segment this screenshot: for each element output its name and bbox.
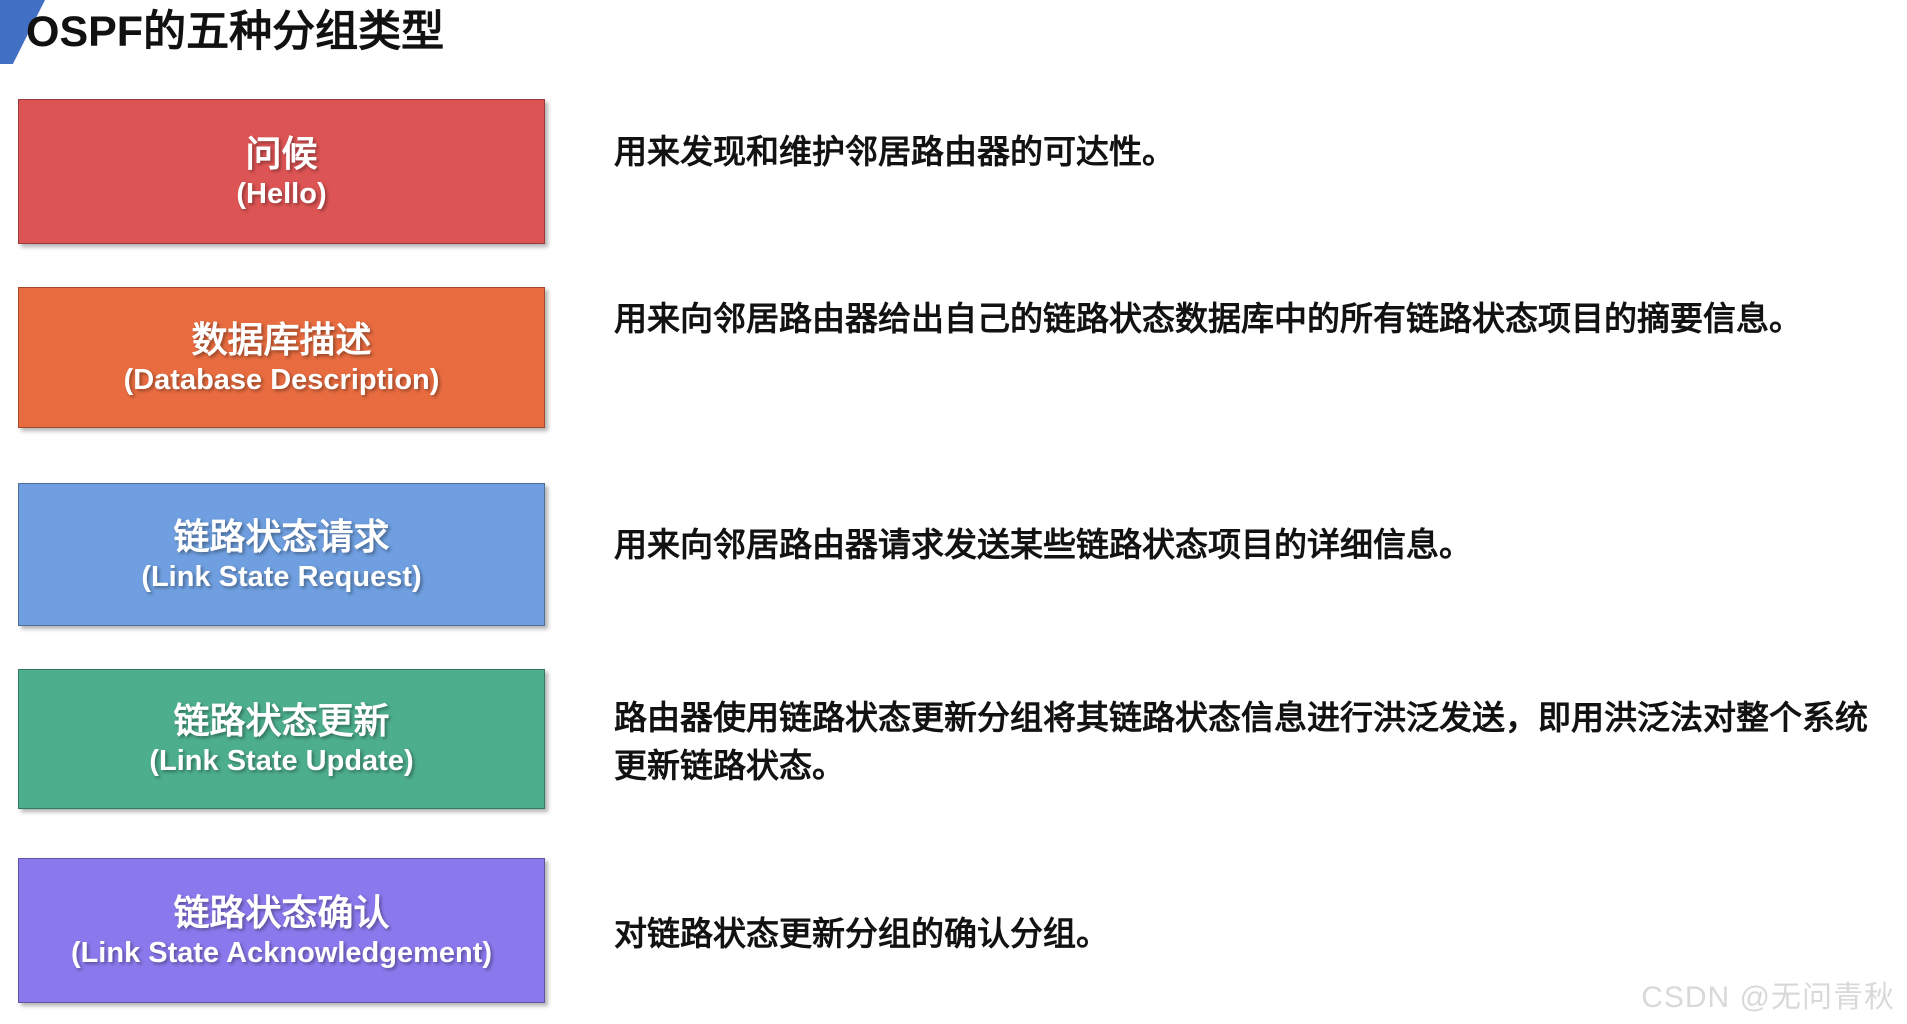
packet-type-name-en: (Link State Request) xyxy=(141,559,421,595)
packet-type-box[interactable]: 链路状态确认(Link State Acknowledgement) xyxy=(18,858,545,1003)
packet-type-description: 用来发现和维护邻居路由器的可达性。 xyxy=(614,128,1884,176)
packet-type-description: 用来向邻居路由器给出自己的链路状态数据库中的所有链路状态项目的摘要信息。 xyxy=(614,295,1884,343)
packet-type-name-cn: 链路状态更新 xyxy=(173,699,389,743)
packet-type-name-en: (Link State Acknowledgement) xyxy=(71,935,492,971)
packet-type-list: 问候(Hello)用来发现和维护邻居路由器的可达性。数据库描述(Database… xyxy=(0,0,1907,1024)
packet-type-box[interactable]: 链路状态请求(Link State Request) xyxy=(18,483,545,626)
packet-type-name-cn: 链路状态确认 xyxy=(173,891,389,935)
packet-type-name-cn: 链路状态请求 xyxy=(173,515,389,559)
watermark: CSDN @无问青秋 xyxy=(1641,972,1895,1016)
packet-type-name-cn: 数据库描述 xyxy=(191,318,371,362)
packet-type-description: 路由器使用链路状态更新分组将其链路状态信息进行洪泛发送，即用洪泛法对整个系统更新… xyxy=(614,694,1884,790)
packet-type-name-en: (Database Description) xyxy=(124,362,440,398)
packet-type-description: 用来向邻居路由器请求发送某些链路状态项目的详细信息。 xyxy=(614,521,1884,569)
packet-type-box[interactable]: 链路状态更新(Link State Update) xyxy=(18,669,545,809)
packet-type-box[interactable]: 数据库描述(Database Description) xyxy=(18,287,545,428)
packet-type-box[interactable]: 问候(Hello) xyxy=(18,99,545,244)
packet-type-name-en: (Link State Update) xyxy=(149,743,413,779)
packet-type-name-en: (Hello) xyxy=(236,176,326,212)
packet-type-description: 对链路状态更新分组的确认分组。 xyxy=(614,910,1884,958)
packet-type-name-cn: 问候 xyxy=(245,132,317,176)
